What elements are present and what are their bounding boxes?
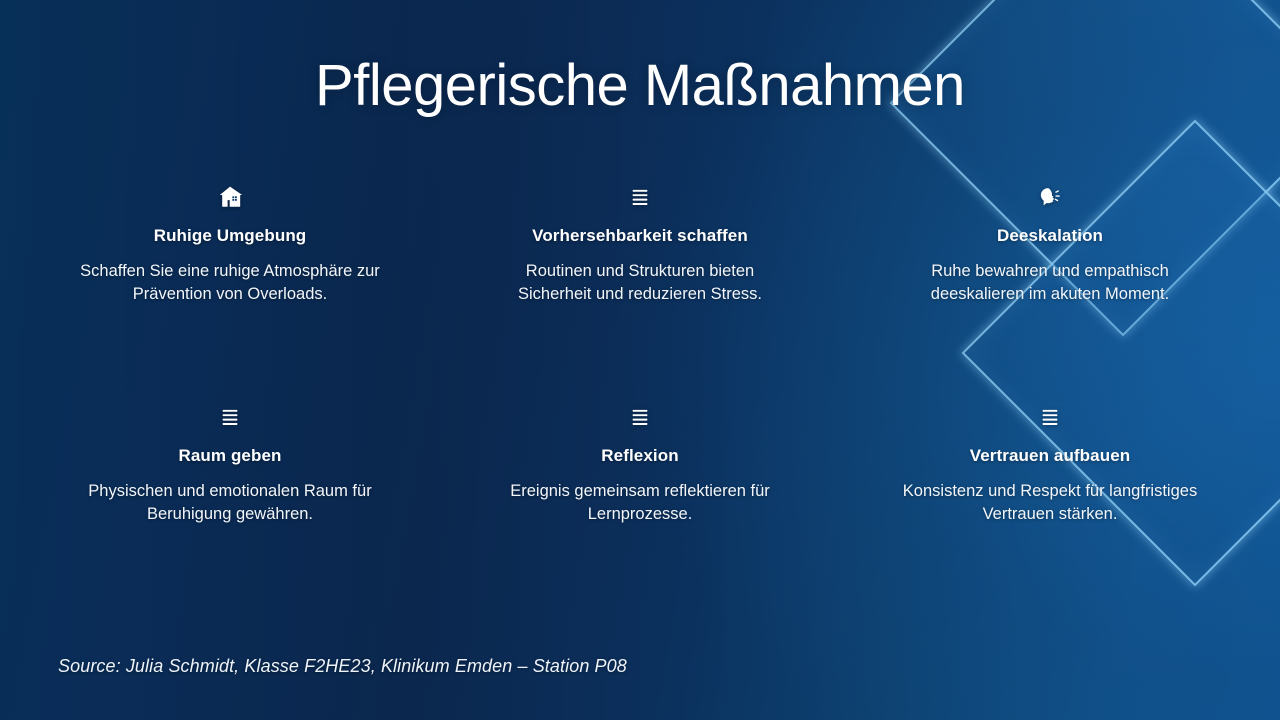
- source-caption: Source: Julia Schmidt, Klasse F2HE23, Kl…: [58, 656, 627, 677]
- measure-description: Routinen und Strukturen bieten Sicherhei…: [490, 260, 790, 307]
- slide-title: Pflegerische Maßnahmen: [0, 52, 1280, 119]
- list-lines-icon: [629, 398, 651, 436]
- home-icon: [217, 178, 243, 216]
- measure-card-vorhersehbarkeit-schaffen: Vorhersehbarkeit schaffen Routinen und S…: [440, 178, 840, 398]
- measure-description: Physischen und emotionalen Raum für Beru…: [80, 480, 380, 527]
- measure-title: Ruhige Umgebung: [154, 226, 307, 246]
- measure-card-vertrauen-aufbauen: Vertrauen aufbauen Konsistenz und Respek…: [850, 398, 1250, 618]
- measure-card-raum-geben: Raum geben Physischen und emotionalen Ra…: [30, 398, 430, 618]
- measure-title: Vorhersehbarkeit schaffen: [532, 226, 748, 246]
- slide-canvas: Pflegerische Maßnahmen Ruhige Umgebung S…: [0, 0, 1280, 720]
- list-lines-icon: [1039, 398, 1061, 436]
- measure-description: Ruhe bewahren und empathisch deeskaliere…: [900, 260, 1200, 307]
- measure-card-reflexion: Reflexion Ereignis gemeinsam reflektiere…: [440, 398, 840, 618]
- measures-grid: Ruhige Umgebung Schaffen Sie eine ruhige…: [30, 178, 1250, 618]
- measure-title: Reflexion: [601, 446, 678, 466]
- measure-card-ruhige-umgebung: Ruhige Umgebung Schaffen Sie eine ruhige…: [30, 178, 430, 398]
- measure-description: Konsistenz und Respekt für langfristiges…: [900, 480, 1200, 527]
- list-lines-icon: [629, 178, 651, 216]
- measure-title: Deeskalation: [997, 226, 1103, 246]
- speaking-head-icon: [1037, 178, 1064, 216]
- measure-title: Raum geben: [178, 446, 281, 466]
- measure-description: Schaffen Sie eine ruhige Atmosphäre zur …: [80, 260, 380, 307]
- measure-description: Ereignis gemeinsam reflektieren für Lern…: [490, 480, 790, 527]
- list-lines-icon: [219, 398, 241, 436]
- measure-card-deeskalation: Deeskalation Ruhe bewahren und empathisc…: [850, 178, 1250, 398]
- measure-title: Vertrauen aufbauen: [970, 446, 1131, 466]
